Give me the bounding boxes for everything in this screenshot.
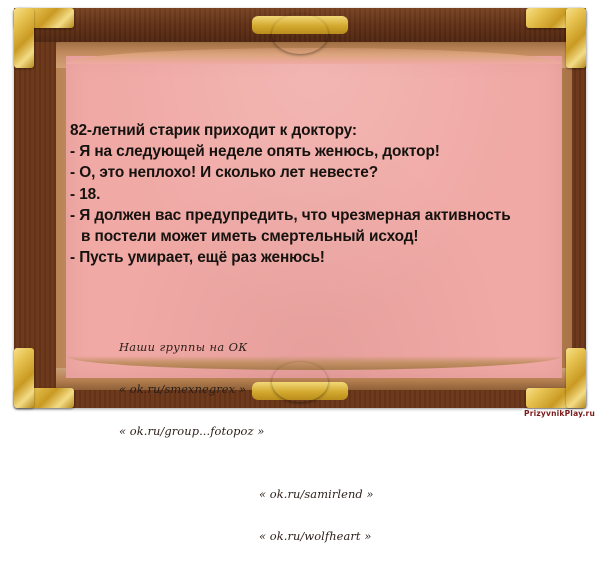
footer-link-wolfheart[interactable]: « ok.ru/wolfheart »: [259, 529, 371, 543]
joke-line: в постели может иметь смертельный исход!: [70, 226, 586, 247]
footer-link-smexnegrex[interactable]: « ok.ru/smexnegrex »: [119, 382, 246, 396]
gold-corner-bottom-right-icon: [526, 348, 586, 408]
gold-clasp-bottom-icon: [252, 360, 348, 404]
watermark: PrizyvnikPlay.ru: [522, 409, 597, 418]
gold-clasp-top-icon: [252, 12, 348, 56]
image-canvas: 82-летний старик приходит к доктору:- Я …: [0, 0, 600, 419]
footer-link-fotopoz[interactable]: « ok.ru/group...fotopoz »: [119, 424, 264, 438]
gold-corner-top-left-icon: [14, 8, 74, 68]
wooden-frame: 82-летний старик приходит к доктору:- Я …: [14, 8, 586, 408]
joke-text-block: 82-летний старик приходит к доктору:- Я …: [70, 120, 586, 268]
footer-link-samirlend[interactable]: « ok.ru/samirlend »: [259, 487, 374, 501]
gold-corner-top-right-icon: [526, 8, 586, 68]
joke-line: - О, это неплохо! И сколько лет невесте?: [70, 162, 586, 183]
footer-label: Наши группы на ОК: [119, 340, 248, 354]
footer-row-2: « ok.ru/samirlend » « ok.ru/wolfheart »: [70, 463, 560, 568]
gold-corner-bottom-left-icon: [14, 348, 74, 408]
joke-line: - Я на следующей неделе опять женюсь, до…: [70, 141, 586, 162]
joke-line: - 18.: [70, 184, 586, 205]
joke-line: 82-летний старик приходит к доктору:: [70, 120, 586, 141]
joke-line: - Я должен вас предупредить, что чрезмер…: [70, 205, 586, 226]
joke-line: - Пусть умирает, ещё раз женюсь!: [70, 247, 586, 268]
footer-links-block: Наши группы на ОК « ok.ru/smexnegrex » «…: [70, 316, 560, 568]
